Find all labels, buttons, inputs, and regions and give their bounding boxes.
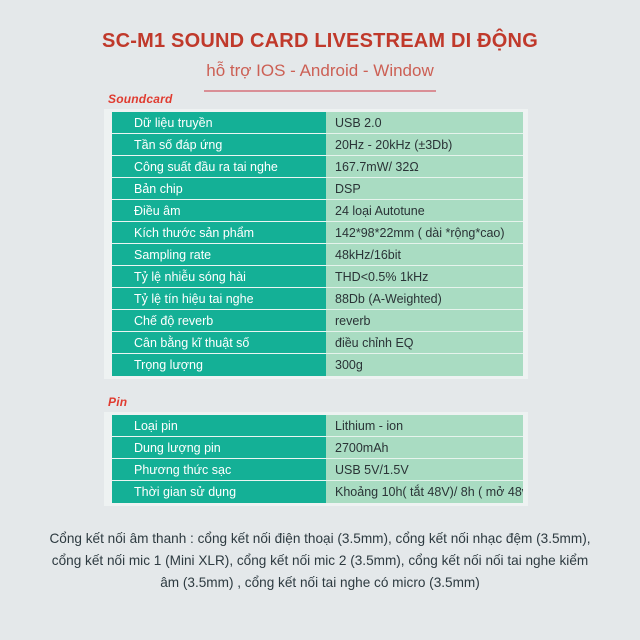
section-label-soundcard: Soundcard (108, 92, 640, 106)
spec-key: Tỷ lệ nhiễu sóng hài (112, 266, 326, 288)
spec-key: Cân bằng kĩ thuật số (112, 332, 326, 354)
spec-value: 48kHz/16bit (326, 244, 523, 266)
spec-value: Lithium - ion (326, 415, 523, 437)
table-row: Cân bằng kĩ thuật sốđiều chỉnh EQ (112, 332, 523, 354)
spec-key: Trọng lượng (112, 354, 326, 376)
spec-value: 300g (326, 354, 523, 376)
table-row: Kích thước sản phẩm142*98*22mm ( dài *rộ… (112, 222, 523, 244)
connectivity-note: Cổng kết nối âm thanh : cổng kết nối điệ… (46, 528, 594, 594)
spec-key: Loại pin (112, 415, 326, 437)
spec-key: Phương thức sạc (112, 459, 326, 481)
table-row: Tỷ lệ nhiễu sóng hàiTHD<0.5% 1kHz (112, 266, 523, 288)
spec-key: Tỷ lệ tín hiệu tai nghe (112, 288, 326, 310)
spec-value: 167.7mW/ 32Ω (326, 156, 523, 178)
spec-table-pin: Loại pinLithium - ionDung lượng pin2700m… (104, 412, 528, 506)
spec-key: Công suất đầu ra tai nghe (112, 156, 326, 178)
spec-value: 2700mAh (326, 437, 523, 459)
section-label-pin: Pin (108, 395, 640, 409)
page-subtitle: hỗ trợ IOS - Android - Window (0, 62, 640, 81)
table-row: Chế độ reverbreverb (112, 310, 523, 332)
table-row: Dung lượng pin2700mAh (112, 437, 523, 459)
section-soundcard: Soundcard Dữ liệu truyềnUSB 2.0Tần số đá… (0, 92, 640, 379)
table-row: Bản chipDSP (112, 178, 523, 200)
spec-key: Tần số đáp ứng (112, 134, 326, 156)
spec-key: Chế độ reverb (112, 310, 326, 332)
spec-value: 88Db (A-Weighted) (326, 288, 523, 310)
spec-sheet-page: SC-M1 SOUND CARD LIVESTREAM DI ĐỘNG hỗ t… (0, 0, 640, 640)
spec-value: 142*98*22mm ( dài *rộng*cao) (326, 222, 523, 244)
spec-key: Dung lượng pin (112, 437, 326, 459)
spec-value: USB 5V/1.5V (326, 459, 523, 481)
spec-key: Kích thước sản phẩm (112, 222, 326, 244)
spec-key: Thời gian sử dụng (112, 481, 326, 503)
spec-table-soundcard: Dữ liệu truyềnUSB 2.0Tần số đáp ứng20Hz … (104, 109, 528, 379)
spec-value: reverb (326, 310, 523, 332)
table-row: Tỷ lệ tín hiệu tai nghe88Db (A-Weighted) (112, 288, 523, 310)
table-row: Loại pinLithium - ion (112, 415, 523, 437)
table-row: Tần số đáp ứng20Hz - 20kHz (±3Db) (112, 134, 523, 156)
table-row: Dữ liệu truyềnUSB 2.0 (112, 112, 523, 134)
spec-value: USB 2.0 (326, 112, 523, 134)
table-row: Trọng lượng300g (112, 354, 523, 376)
spec-value: 24 loại Autotune (326, 200, 523, 222)
spec-value: DSP (326, 178, 523, 200)
table-row: Phương thức sạcUSB 5V/1.5V (112, 459, 523, 481)
spec-key: Điều âm (112, 200, 326, 222)
table-row: Sampling rate48kHz/16bit (112, 244, 523, 266)
spec-value: 20Hz - 20kHz (±3Db) (326, 134, 523, 156)
spec-value: điều chỉnh EQ (326, 332, 523, 354)
header: SC-M1 SOUND CARD LIVESTREAM DI ĐỘNG hỗ t… (0, 0, 640, 92)
table-row: Công suất đầu ra tai nghe167.7mW/ 32Ω (112, 156, 523, 178)
spec-key: Sampling rate (112, 244, 326, 266)
spec-value: Khoảng 10h( tắt 48V)/ 8h ( mở 48v) (326, 481, 523, 503)
spec-key: Dữ liệu truyền (112, 112, 326, 134)
table-row: Điều âm24 loại Autotune (112, 200, 523, 222)
table-row: Thời gian sử dụngKhoảng 10h( tắt 48V)/ 8… (112, 481, 523, 503)
section-pin: Pin Loại pinLithium - ionDung lượng pin2… (0, 395, 640, 506)
spec-key: Bản chip (112, 178, 326, 200)
spec-value: THD<0.5% 1kHz (326, 266, 523, 288)
page-title: SC-M1 SOUND CARD LIVESTREAM DI ĐỘNG (0, 30, 640, 52)
